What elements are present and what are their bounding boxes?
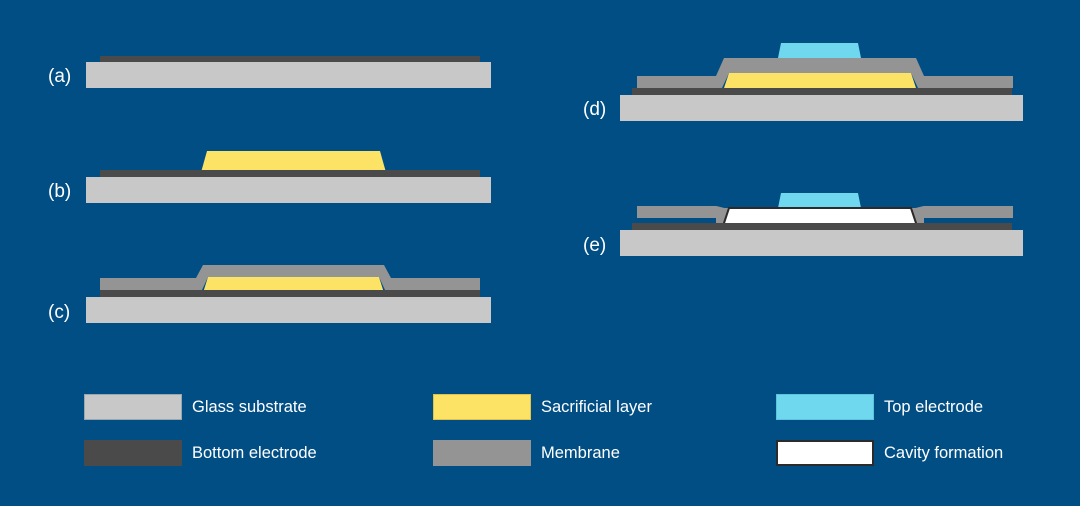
legend-swatch-sacrificial-layer: [433, 394, 531, 420]
panel-c-label: (c): [48, 302, 70, 323]
process-flow-diagram: (a) (b) (c) (d): [0, 0, 1080, 506]
legend-swatch-glass-substrate: [84, 394, 182, 420]
figure-canvas: (a) (b) (c) (d): [0, 0, 1080, 506]
panel-a-label: (a): [48, 66, 71, 87]
panel-b-label: (b): [48, 181, 71, 202]
panel-d: (d): [583, 43, 1023, 121]
legend-swatch-cavity-formation: [776, 440, 874, 466]
legend-swatch-membrane: [433, 440, 531, 466]
panel-d-top-electrode: [778, 43, 861, 58]
legend-label-top-electrode: Top electrode: [884, 399, 983, 416]
legend-label-cavity-formation: Cavity formation: [884, 445, 1003, 462]
legend-label-glass-substrate: Glass substrate: [192, 399, 307, 416]
panel-e-glass-substrate: [620, 230, 1023, 256]
panel-d-glass-substrate: [620, 95, 1023, 121]
panel-e-top-electrode: [778, 193, 861, 208]
panel-a: (a): [48, 56, 491, 88]
legend-swatch-top-electrode: [776, 394, 874, 420]
panel-c: (c): [48, 265, 491, 323]
legend-label-bottom-electrode: Bottom electrode: [192, 445, 317, 462]
panel-e-label: (e): [583, 235, 606, 256]
panel-b: (b): [48, 151, 491, 203]
legend-label-membrane: Membrane: [541, 445, 620, 462]
panel-e: (e): [583, 193, 1023, 256]
panel-a-glass-substrate: [86, 62, 491, 88]
panel-c-glass-substrate: [86, 297, 491, 323]
legend-swatch-bottom-electrode: [84, 440, 182, 466]
panel-d-label: (d): [583, 99, 606, 120]
legend-label-sacrificial-layer: Sacrificial layer: [541, 399, 652, 416]
panel-b-glass-substrate: [86, 177, 491, 203]
